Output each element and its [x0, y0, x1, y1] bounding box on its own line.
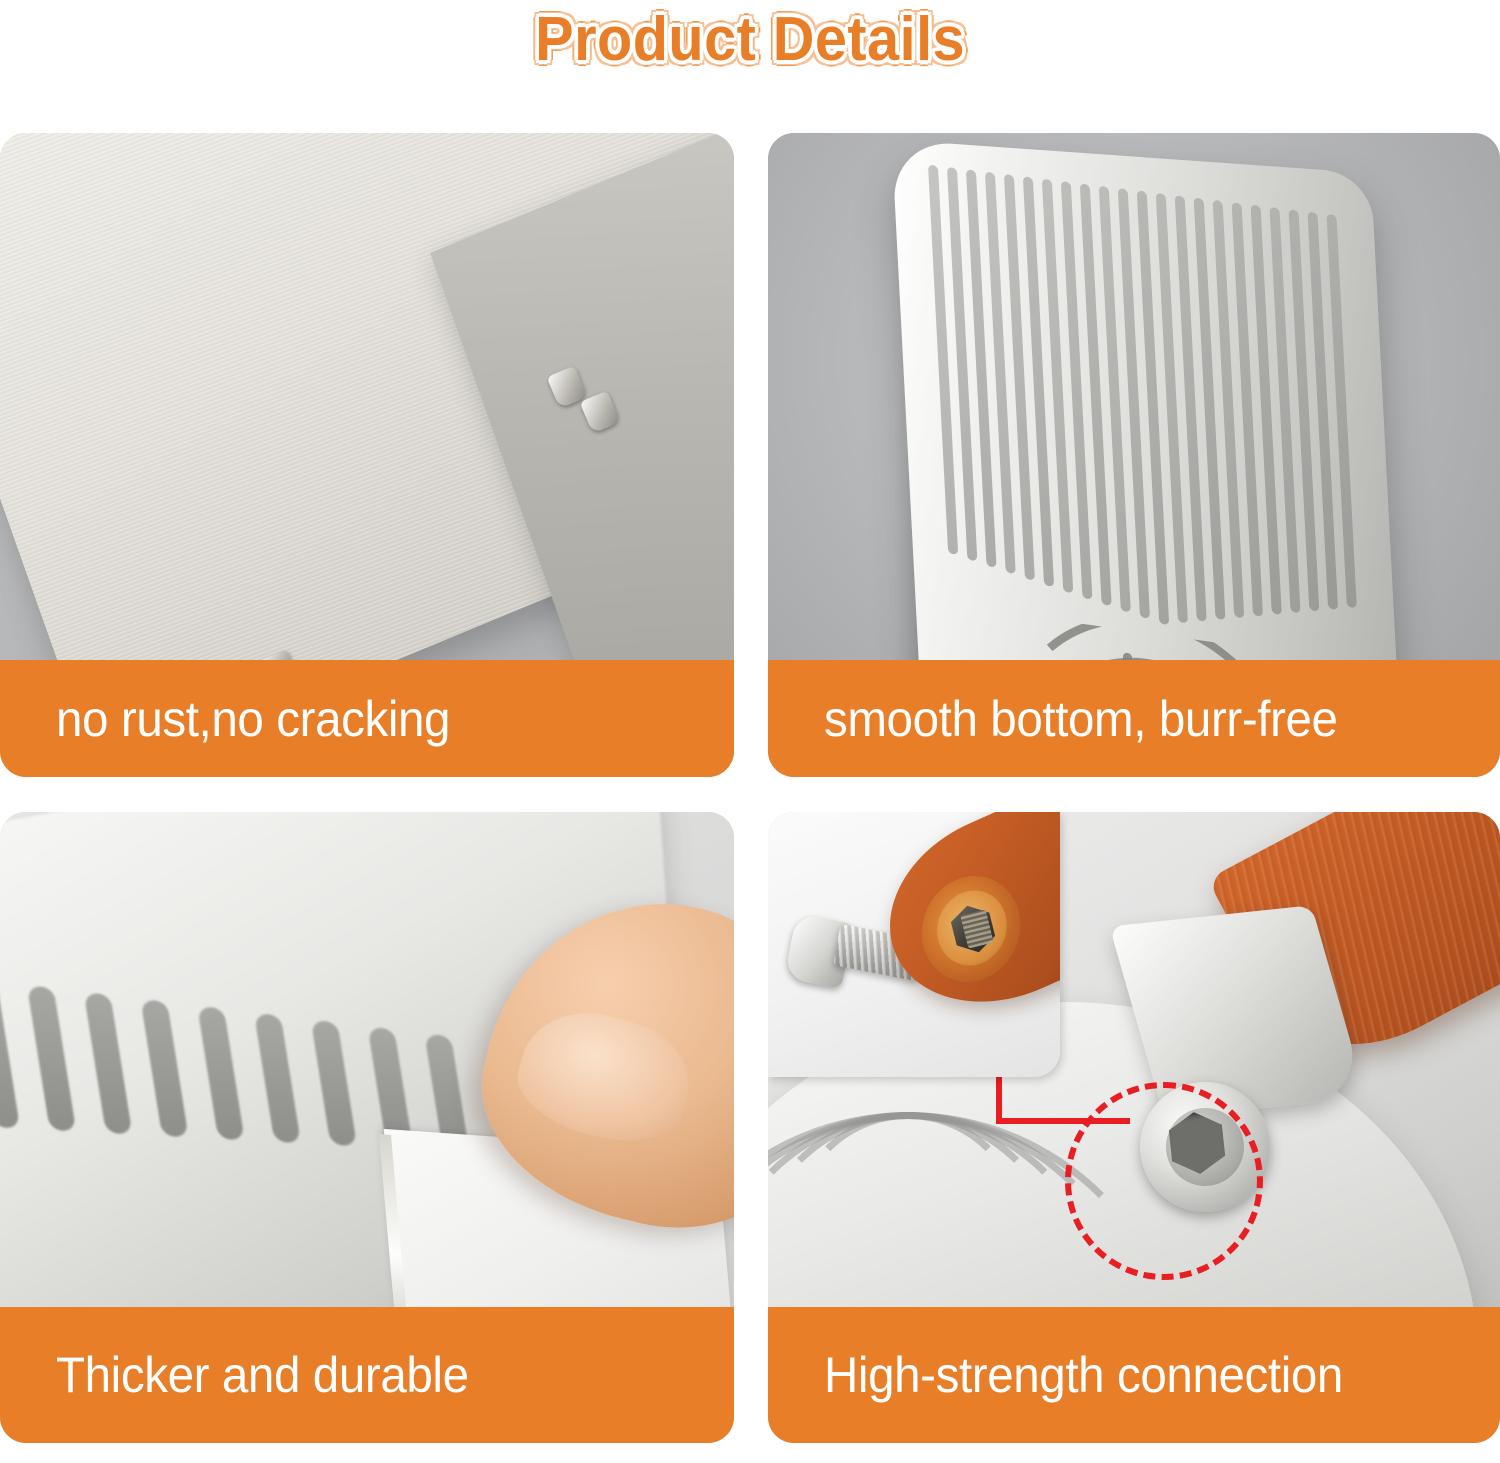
caption-text: High-strength connection — [824, 1346, 1343, 1404]
detail-panel-smooth-bottom: smooth bottom, burr-free — [768, 133, 1500, 777]
panel-caption-no-rust: no rust,no cracking — [0, 660, 734, 777]
panel-caption-thicker-durable: Thicker and durable — [0, 1307, 734, 1443]
detail-panel-no-rust: no rust,no cracking — [0, 133, 734, 777]
page-title: Product Details — [535, 4, 965, 75]
caption-text: no rust,no cracking — [56, 690, 450, 748]
panel-caption-high-strength: High-strength connection — [768, 1307, 1500, 1443]
caption-text: Thicker and durable — [56, 1346, 469, 1404]
panel-caption-smooth-bottom: smooth bottom, burr-free — [768, 660, 1500, 777]
red-dashed-highlight-circle — [1065, 1082, 1263, 1280]
detail-panel-high-strength: High-strength connection — [768, 812, 1500, 1443]
detail-panel-thicker-durable: Thicker and durable — [0, 812, 734, 1443]
header: Product Details — [0, 0, 1500, 110]
caption-text: smooth bottom, burr-free — [824, 690, 1338, 748]
leader-line-horizontal — [996, 1118, 1130, 1124]
inset-closeup-panel — [768, 812, 1060, 1077]
